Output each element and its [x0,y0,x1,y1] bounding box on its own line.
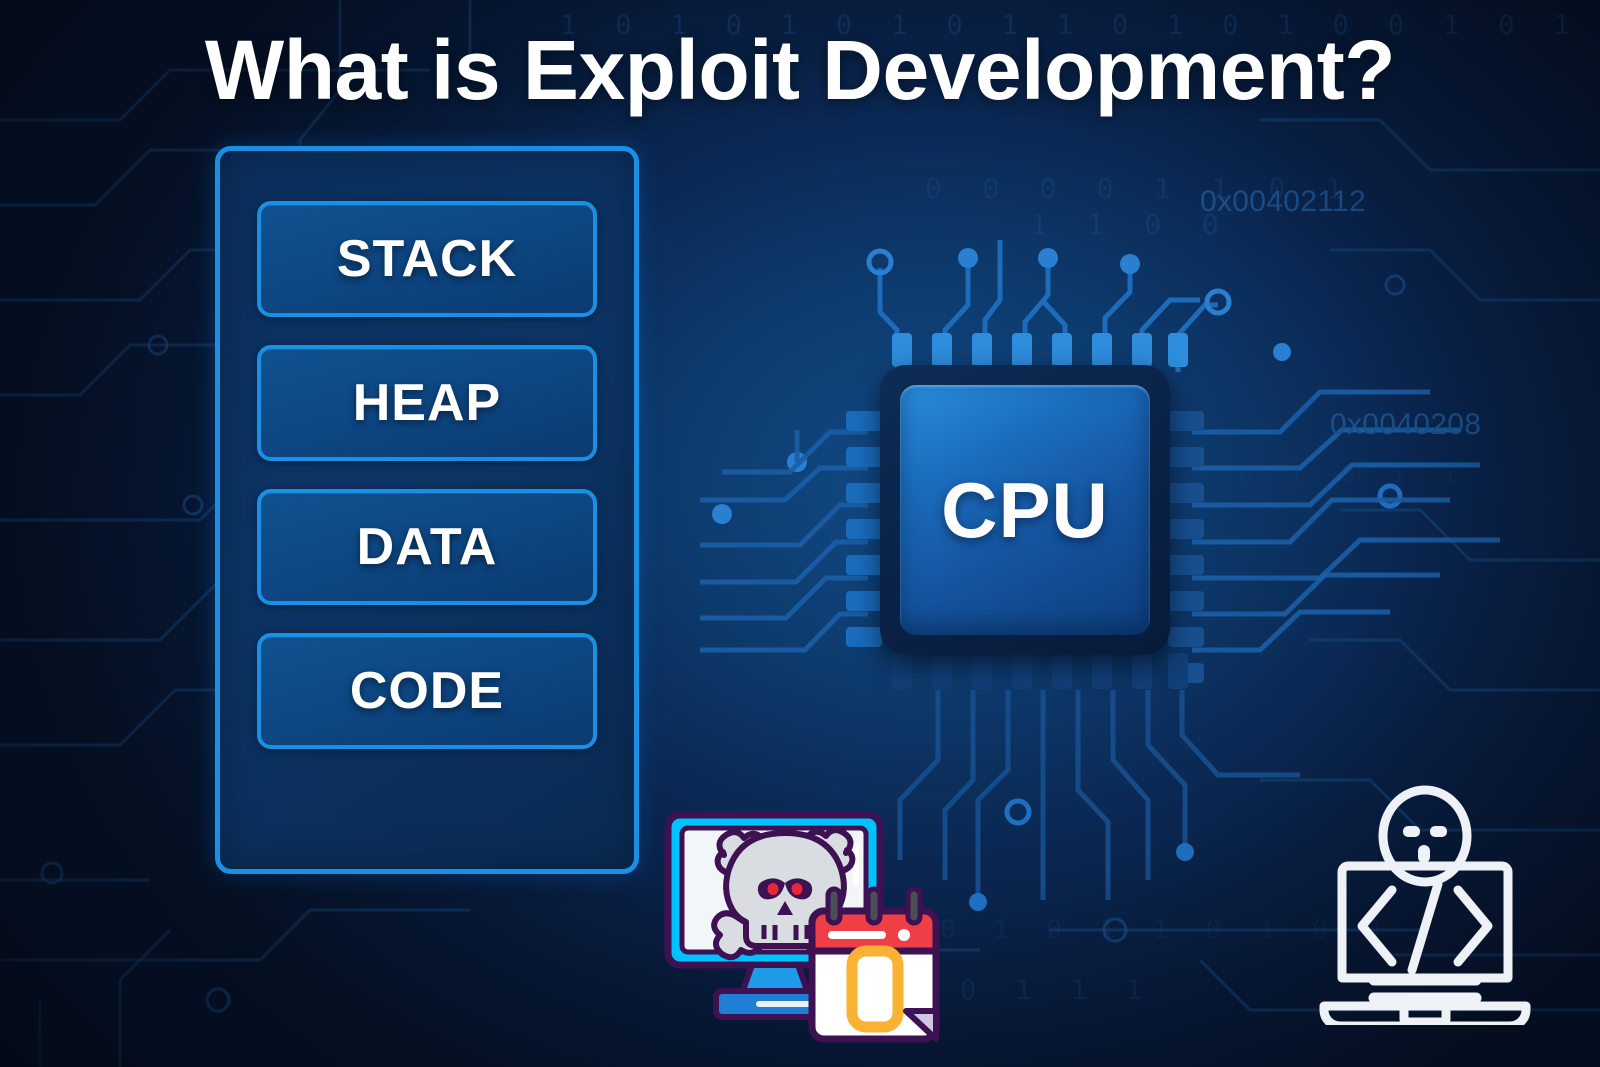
memory-segment-label: CODE [350,661,504,721]
memory-segment-data[interactable]: DATA [257,489,597,605]
binary-text-bottom: 0 1 1 1 [960,975,1153,1006]
cpu-label: CPU [941,465,1109,556]
cpu-chip-body: CPU [880,365,1170,655]
memory-segment-label: STACK [337,229,517,289]
zero-day-exploit-icon: 0 [660,805,950,1050]
memory-segment-label: DATA [357,517,498,577]
hacker-laptop-code-icon: </> [1300,780,1550,1025]
infographic-canvas: 1 0 1 0 1 0 1 0 1 1 0 1 0 1 0 0 1 0 1 1 … [0,0,1600,1067]
memory-layout-panel: STACK HEAP DATA CODE [215,146,639,874]
hex-address-2: 0x0040208 [1330,408,1481,442]
memory-segment-code[interactable]: CODE [257,633,597,749]
cpu-illustration: CPU [700,215,1320,855]
hex-address-1: 0x00402112 [1200,185,1366,219]
memory-segment-heap[interactable]: HEAP [257,345,597,461]
cpu-die: CPU [900,385,1150,635]
page-title: What is Exploit Development? [0,22,1600,119]
memory-segment-stack[interactable]: STACK [257,201,597,317]
memory-segment-label: HEAP [353,373,501,433]
